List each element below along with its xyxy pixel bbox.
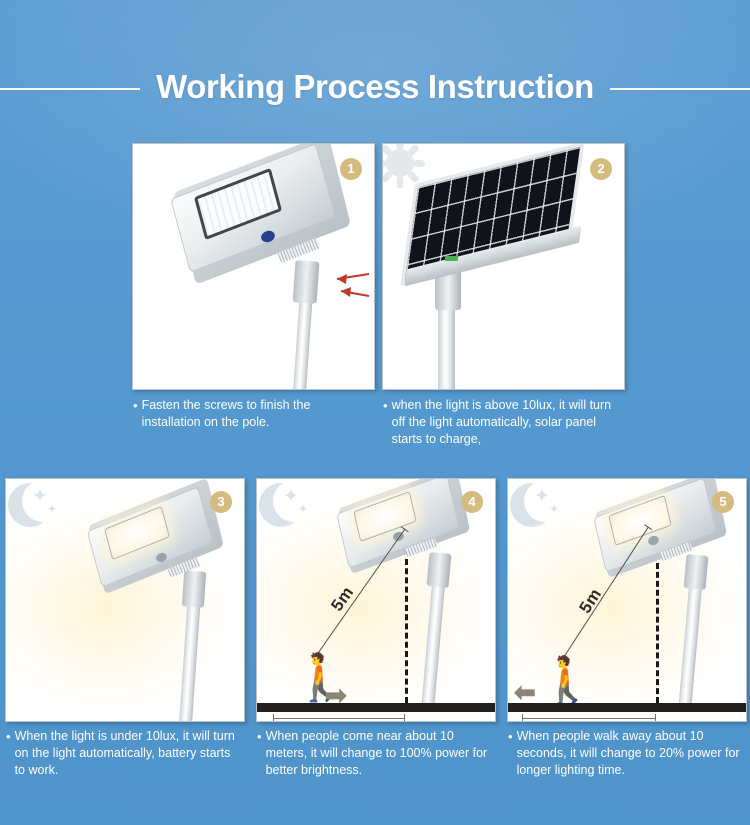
ground-line	[508, 703, 747, 712]
step-4-caption-text: When people come near about 10 meters, i…	[266, 728, 495, 779]
vertical-reference-line	[656, 563, 659, 703]
bullet: •	[508, 728, 513, 745]
step-1-badge: 1	[340, 158, 362, 180]
bullet: •	[133, 397, 138, 414]
step-3-badge: 3	[210, 491, 232, 513]
step-3-card[interactable]: 3 ✦ ✦	[5, 478, 245, 722]
step-3-caption: • When the light is under 10lux, it will…	[6, 728, 242, 779]
bullet: •	[383, 397, 388, 414]
pole	[179, 595, 201, 722]
bullet: •	[257, 728, 262, 745]
pole	[678, 574, 703, 711]
step-4-caption: • When people come near about 10 meters,…	[257, 728, 495, 779]
step-3-caption-text: When the light is under 10lux, it will t…	[15, 728, 242, 779]
ground-measure-bar	[522, 718, 656, 719]
page-title: Working Process Instruction	[156, 68, 594, 106]
step-5-caption-text: When people walk away about 10 seconds, …	[517, 728, 746, 779]
person-silhouette: 🚶	[538, 657, 595, 703]
step-1-caption: • Fasten the screws to finish the instal…	[133, 397, 363, 431]
step-4-card[interactable]: 4 ✦ ✦ 5m 🚶 ➡	[256, 478, 496, 722]
pole	[438, 299, 455, 390]
step-2-card[interactable]: 2	[382, 143, 625, 390]
pole	[421, 572, 446, 711]
title-divider-right	[610, 88, 750, 90]
pole	[293, 292, 313, 390]
street-light-illustration-3	[6, 479, 245, 722]
title-divider-left	[0, 88, 140, 90]
step-5-card[interactable]: 5 ✦ ✦ 5m 🚶 ⬅	[507, 478, 747, 722]
screw-arrows-icon	[311, 266, 375, 310]
step-4-badge: 4	[461, 491, 483, 513]
pole-bracket	[427, 552, 452, 588]
direction-arrow-left: ⬅	[514, 679, 536, 705]
step-2-badge: 2	[590, 158, 612, 180]
bullet: •	[6, 728, 11, 745]
ground-line	[257, 703, 496, 712]
step-2-caption-text: when the light is above 10lux, it will t…	[392, 397, 628, 448]
step-1-card[interactable]: 1	[132, 143, 375, 390]
panel-indicator-led	[445, 256, 458, 261]
step-5-badge: 5	[712, 491, 734, 513]
step-2-caption: • when the light is above 10lux, it will…	[383, 397, 628, 448]
vertical-reference-line	[405, 559, 408, 703]
solar-panel-illustration	[383, 144, 625, 390]
ground-measure-bar	[273, 718, 405, 719]
page-title-row: Working Process Instruction	[0, 58, 750, 116]
pole-bracket	[684, 554, 709, 590]
pole-bracket	[182, 570, 206, 607]
step-1-caption-text: Fasten the screws to finish the installa…	[142, 397, 363, 431]
step-5-caption: • When people walk away about 10 seconds…	[508, 728, 746, 779]
